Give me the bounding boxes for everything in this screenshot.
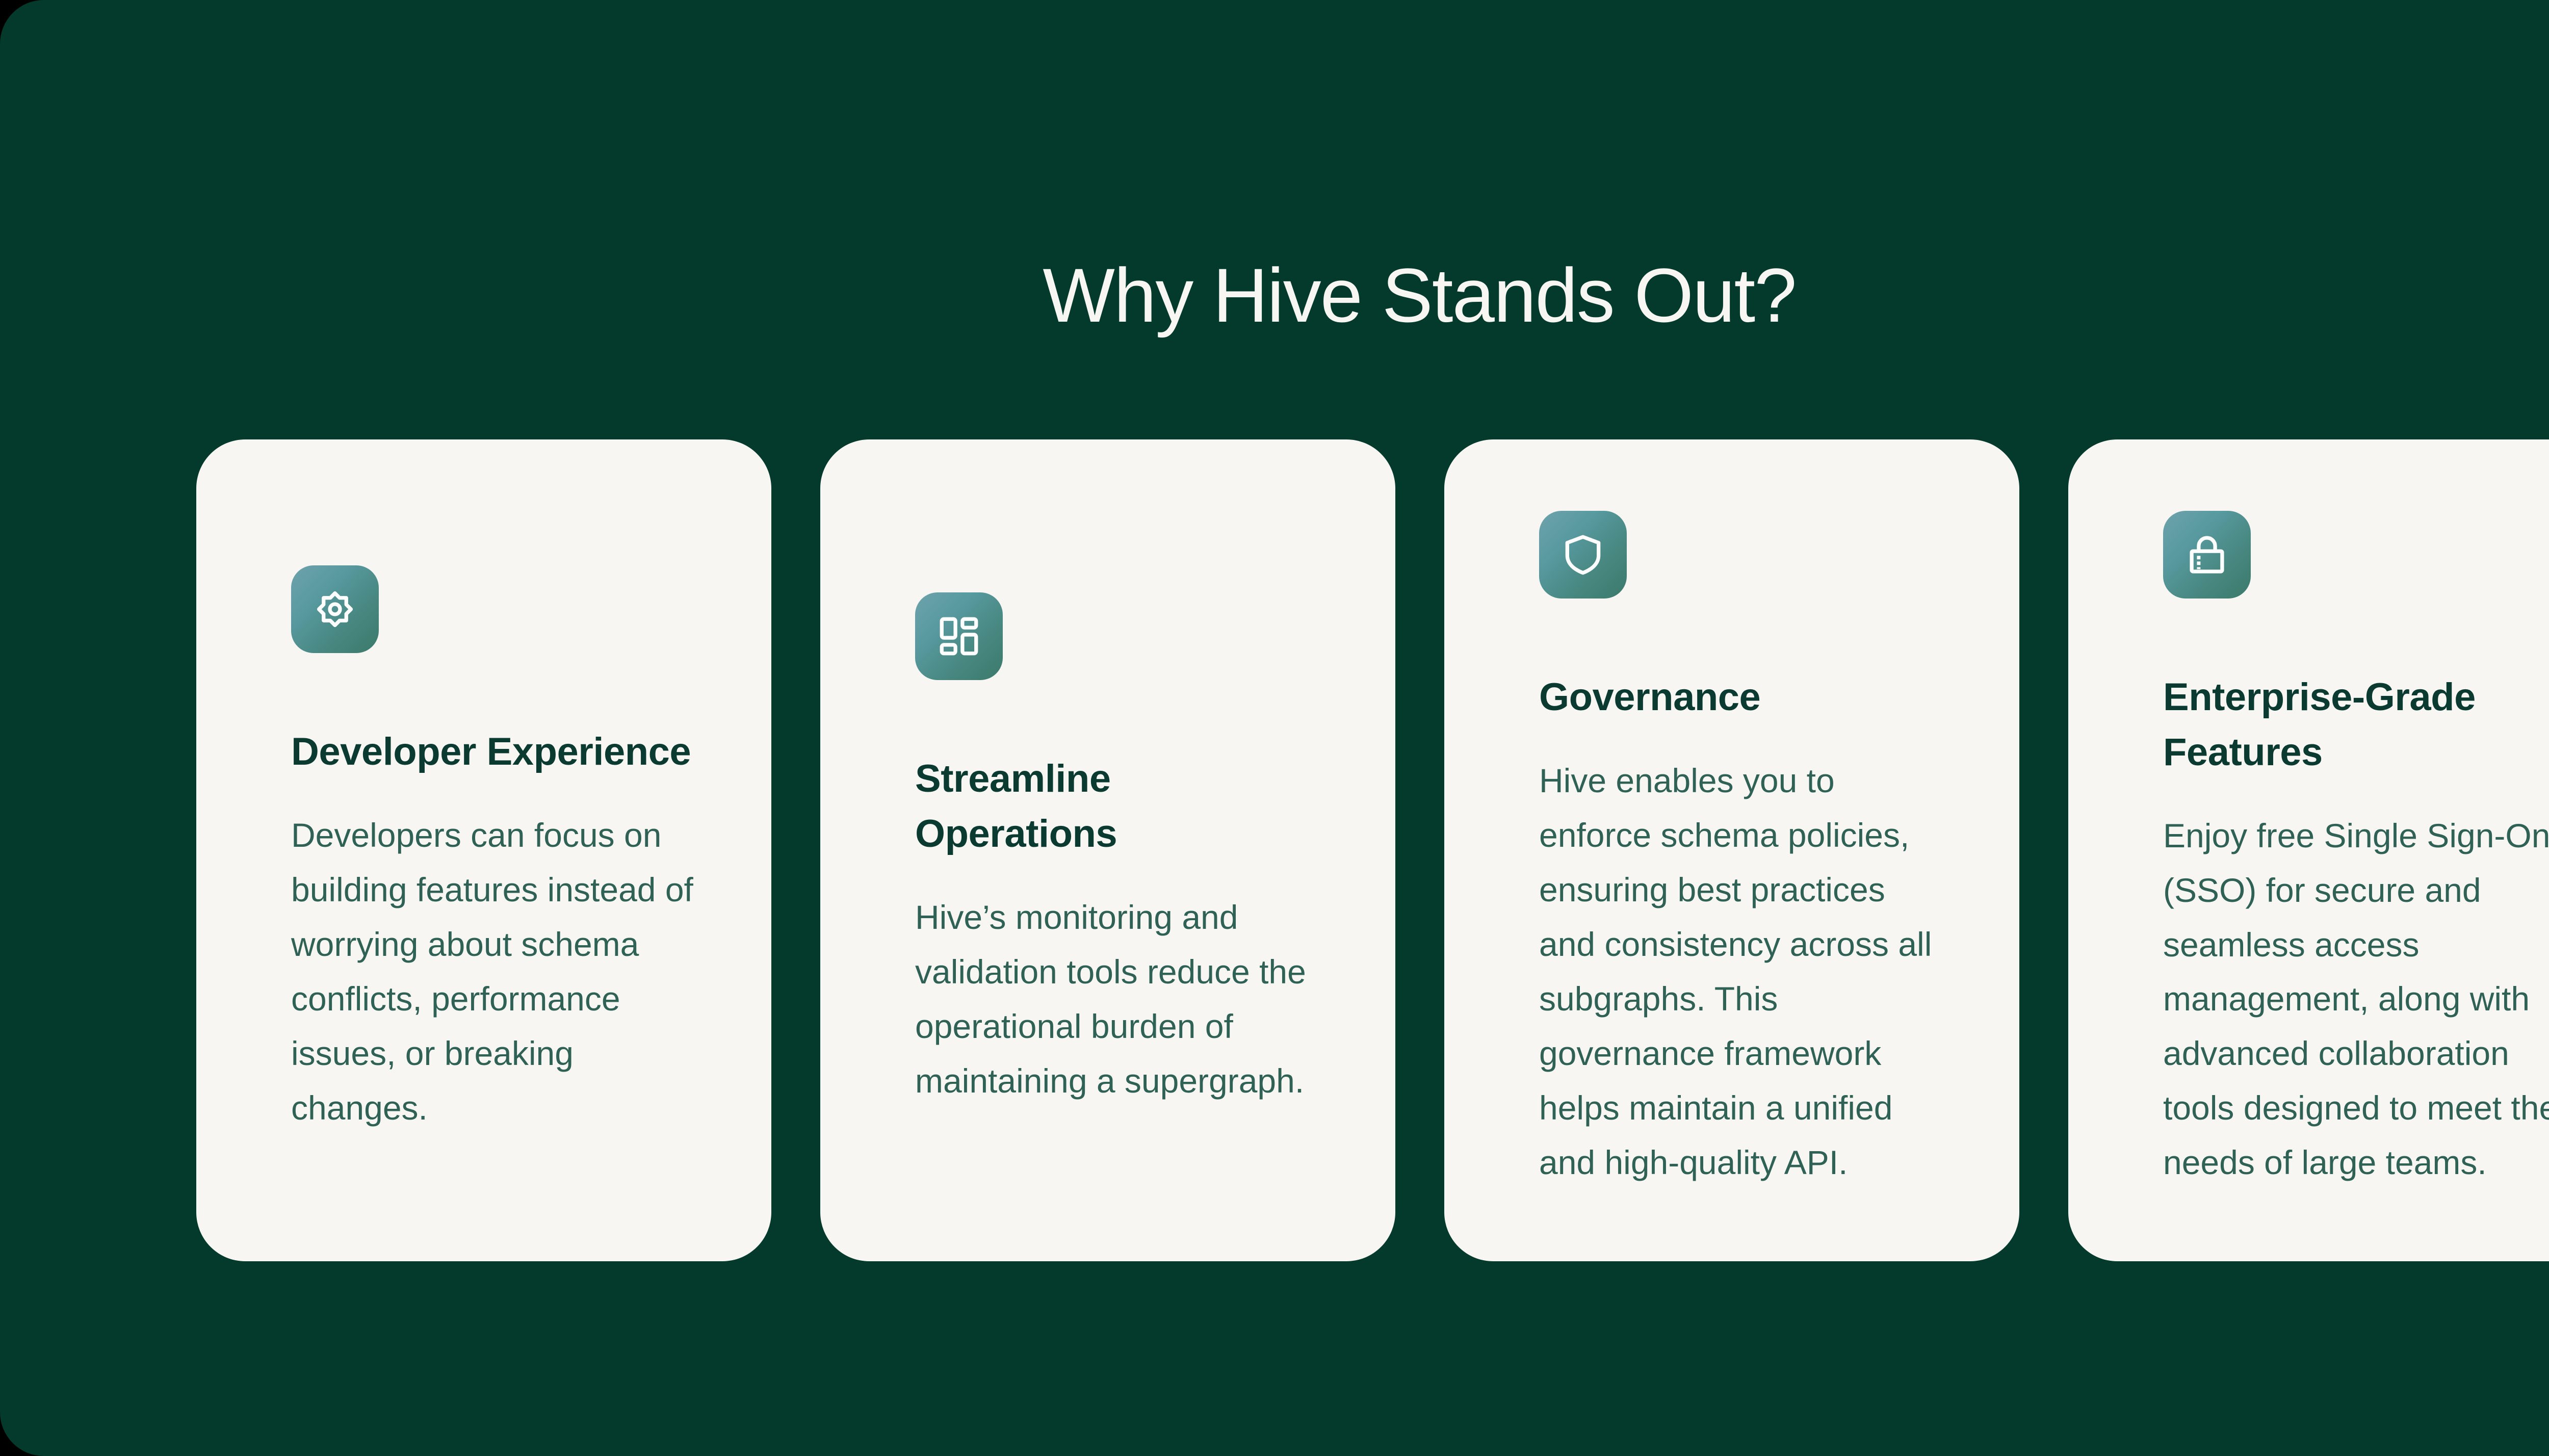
card-body-text: Hive enables you to enforce schema polic… — [1539, 753, 1942, 1189]
card-body-text: Hive’s monitoring and validation tools r… — [915, 890, 1318, 1108]
lock-icon — [2163, 511, 2251, 599]
card-content: Governance Hive enables you to enforce s… — [1539, 511, 1978, 1189]
card-heading: Governance — [1539, 670, 1947, 725]
card-heading: Enterprise-Grade Features — [2163, 670, 2549, 780]
feature-cards-row: Developer Experience Developers can focu… — [196, 439, 2549, 1261]
card-content: Developer Experience Developers can focu… — [291, 565, 730, 1135]
card-heading: Developer Experience — [291, 724, 699, 779]
feature-section: Why Hive Stands Out? Developer Experienc… — [0, 0, 2549, 1456]
card-content: Enterprise-Grade Features Enjoy free Sin… — [2163, 511, 2549, 1190]
gear-icon — [291, 565, 379, 653]
shield-icon — [1539, 511, 1627, 599]
feature-card-enterprise-grade-features[interactable]: Enterprise-Grade Features Enjoy free Sin… — [2068, 439, 2549, 1261]
page-title: Why Hive Stands Out? — [0, 251, 2549, 340]
card-body-text: Developers can focus on building feature… — [291, 808, 694, 1135]
feature-card-developer-experience[interactable]: Developer Experience Developers can focu… — [196, 439, 771, 1261]
card-heading: Streamline Operations — [915, 751, 1323, 862]
dashboard-layout-icon — [915, 592, 1003, 680]
card-body-text: Enjoy free Single Sign-On (SSO) for secu… — [2163, 809, 2549, 1190]
feature-card-governance[interactable]: Governance Hive enables you to enforce s… — [1444, 439, 2019, 1261]
feature-card-streamline-operations[interactable]: Streamline Operations Hive’s monitoring … — [820, 439, 1395, 1261]
card-content: Streamline Operations Hive’s monitoring … — [915, 592, 1354, 1108]
